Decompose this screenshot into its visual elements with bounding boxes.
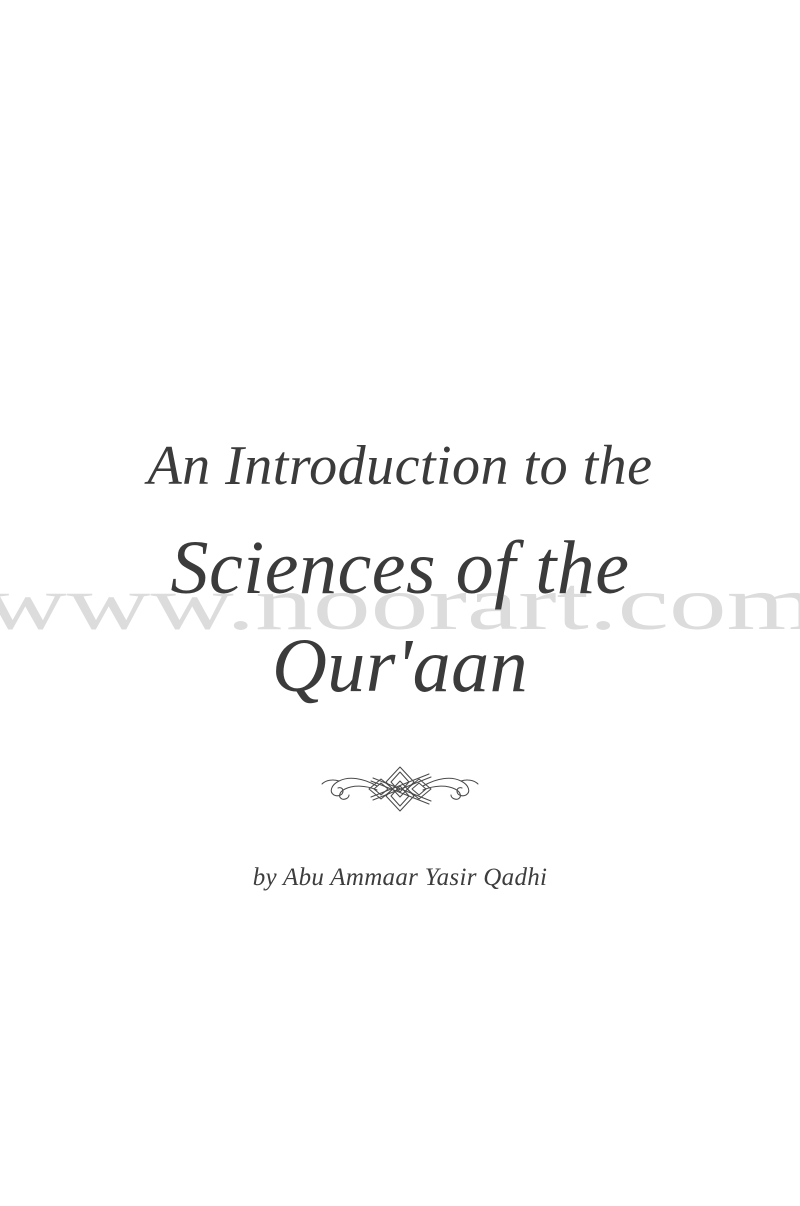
byline-container: by Abu Ammaar Yasir Qadhi bbox=[0, 862, 800, 894]
author-byline: by Abu Ammaar Yasir Qadhi bbox=[0, 862, 800, 894]
title-page: www.noorart.com An Introduction to the S… bbox=[0, 0, 800, 1206]
title-line-2: Sciences of the bbox=[0, 520, 800, 616]
ornament-divider bbox=[0, 762, 800, 816]
flourish-divider-icon bbox=[315, 762, 485, 816]
title-line-3: Qur'aan bbox=[0, 618, 800, 714]
book-title: An Introduction to the Sciences of the Q… bbox=[0, 430, 800, 714]
title-line-1: An Introduction to the bbox=[0, 430, 800, 502]
